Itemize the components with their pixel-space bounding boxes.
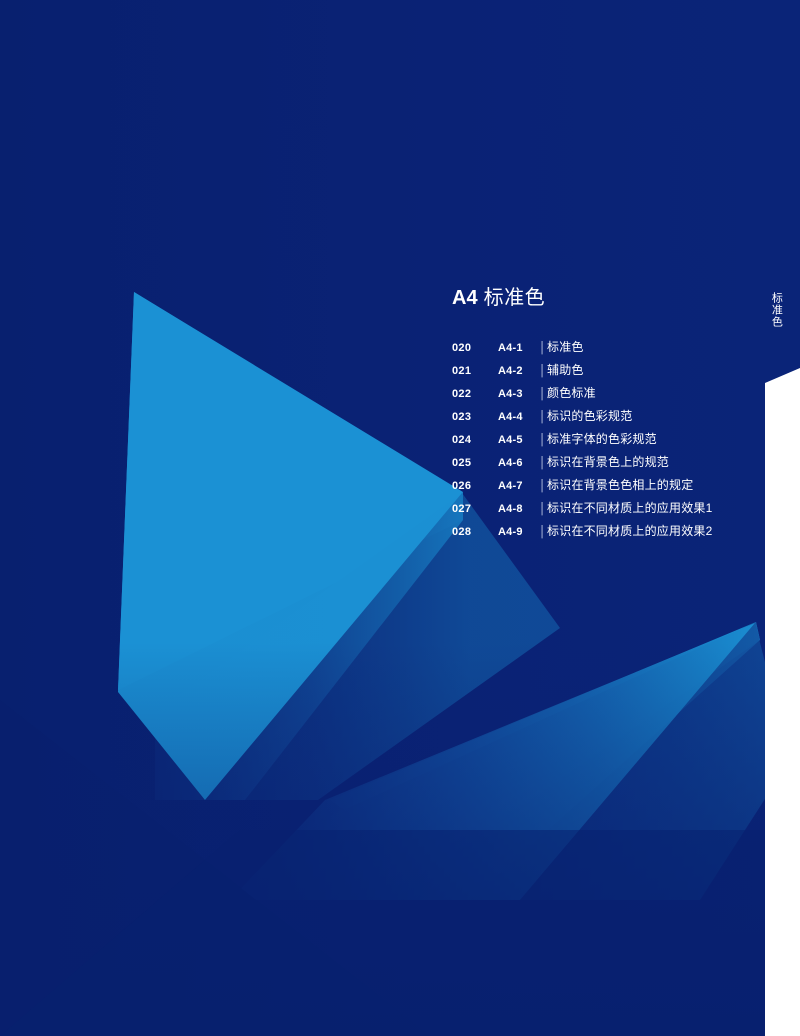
page-title: A4标准色 <box>452 286 752 310</box>
toc-entry-label: 标识在背景色上的规范 <box>547 453 752 470</box>
toc-separator: │ <box>538 434 547 446</box>
page-title-text: 标准色 <box>484 287 546 309</box>
toc-entry-label: 标准字体的色彩规范 <box>547 430 752 447</box>
toc-section-code: A4-8 <box>498 503 538 515</box>
page-root: 标准色 A4标准色 020A4-1│标准色021A4-2│辅助色022A4-3│… <box>0 0 800 1036</box>
toc-section-code: A4-6 <box>498 457 538 469</box>
toc-separator: │ <box>538 365 547 377</box>
toc-entry-label: 辅助色 <box>547 361 752 378</box>
toc-row[interactable]: 028A4-9│标识在不同材质上的应用效果2 <box>452 522 752 545</box>
toc-section-code: A4-1 <box>498 342 538 354</box>
toc-page-number: 022 <box>452 388 498 400</box>
toc-section-code: A4-2 <box>498 365 538 377</box>
toc-page-number: 025 <box>452 457 498 469</box>
toc-separator: │ <box>538 526 547 538</box>
toc-row[interactable]: 027A4-8│标识在不同材质上的应用效果1 <box>452 499 752 522</box>
toc-entry-label: 标准色 <box>547 338 752 355</box>
toc-row[interactable]: 022A4-3│颜色标准 <box>452 384 752 407</box>
toc-entry-label: 标识在不同材质上的应用效果2 <box>547 522 752 539</box>
toc-page-number: 020 <box>452 342 498 354</box>
toc-entry-label: 标识在背景色色相上的规定 <box>547 476 752 493</box>
toc-row[interactable]: 023A4-4│标识的色彩规范 <box>452 407 752 430</box>
toc-separator: │ <box>538 411 547 423</box>
toc-separator: │ <box>538 480 547 492</box>
toc-separator: │ <box>538 503 547 515</box>
toc-row[interactable]: 020A4-1│标准色 <box>452 338 752 361</box>
toc-section-code: A4-5 <box>498 434 538 446</box>
toc-separator: │ <box>538 457 547 469</box>
toc-row[interactable]: 025A4-6│标识在背景色上的规范 <box>452 453 752 476</box>
toc-entry-label: 颜色标准 <box>547 384 752 401</box>
toc-page-number: 023 <box>452 411 498 423</box>
toc-section-code: A4-9 <box>498 526 538 538</box>
toc-entry-label: 标识在不同材质上的应用效果1 <box>547 499 752 516</box>
toc-page-number: 026 <box>452 480 498 492</box>
table-of-contents: 020A4-1│标准色021A4-2│辅助色022A4-3│颜色标准023A4-… <box>452 338 752 545</box>
toc-page-number: 021 <box>452 365 498 377</box>
toc-row[interactable]: 021A4-2│辅助色 <box>452 361 752 384</box>
toc-page-number: 024 <box>452 434 498 446</box>
toc-section-code: A4-3 <box>498 388 538 400</box>
toc-section-code: A4-7 <box>498 480 538 492</box>
toc-page-number: 028 <box>452 526 498 538</box>
toc-row[interactable]: 026A4-7│标识在背景色色相上的规定 <box>452 476 752 499</box>
side-tab-label: 标准色 <box>770 292 783 328</box>
content-column: A4标准色 020A4-1│标准色021A4-2│辅助色022A4-3│颜色标准… <box>452 286 752 545</box>
toc-separator: │ <box>538 388 547 400</box>
toc-section-code: A4-4 <box>498 411 538 423</box>
toc-separator: │ <box>538 342 547 354</box>
toc-row[interactable]: 024A4-5│标准字体的色彩规范 <box>452 430 752 453</box>
toc-page-number: 027 <box>452 503 498 515</box>
toc-entry-label: 标识的色彩规范 <box>547 407 752 424</box>
page-title-code: A4 <box>452 287 478 309</box>
side-tab[interactable]: 标准色 <box>765 292 787 354</box>
